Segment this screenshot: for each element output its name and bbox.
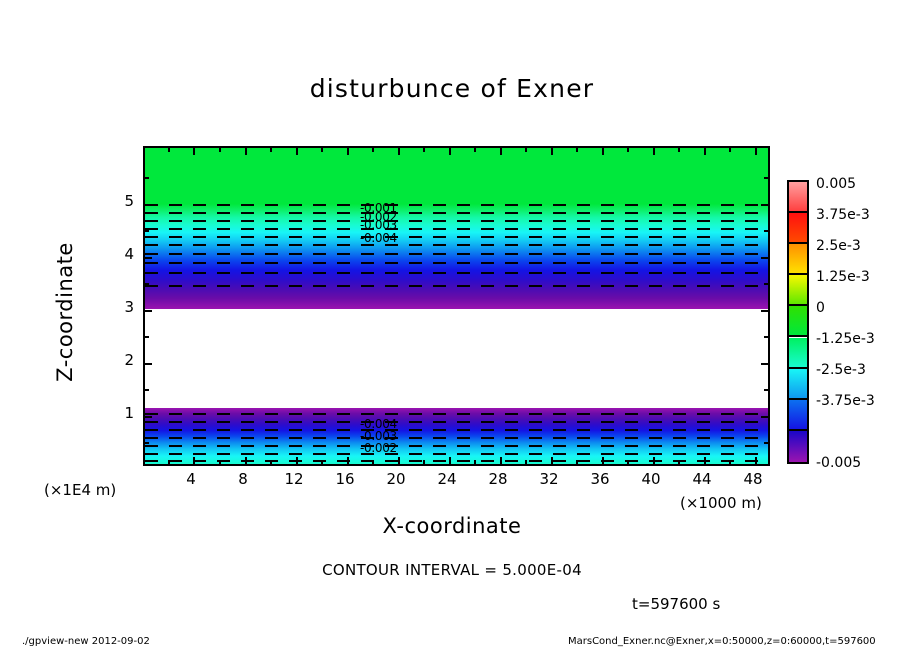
x-tick-12: [296, 457, 298, 464]
colorbar-label-3: 1.25e-3: [816, 269, 870, 285]
x-tick-20: [398, 457, 400, 464]
x-tick-top-minor-2: [168, 148, 170, 152]
x-tick-top-44: [704, 148, 706, 155]
x-tick-top-minor-22: [423, 148, 425, 152]
x-tick-top-minor-6: [219, 148, 221, 152]
x-tick-minor-30: [525, 460, 527, 464]
colorbar-cell-4: [789, 306, 807, 337]
x-tick-top-16: [347, 148, 349, 155]
x-tick-minor-34: [576, 460, 578, 464]
colorbar-label-4: 0: [816, 300, 825, 316]
x-tick-top-40: [653, 148, 655, 155]
contour-label-lower-3: -0.002: [360, 441, 397, 455]
y-tick-right-5: [761, 204, 768, 206]
y-tick-label-5: 5: [104, 192, 134, 210]
x-tick-minor-6: [219, 460, 221, 464]
colorbar-label-8: -0.005: [816, 455, 861, 471]
y-tick-minor-1_5: [145, 389, 149, 391]
y-tick-label-3: 3: [104, 298, 134, 316]
x-tick-label-48: 48: [733, 470, 773, 488]
x-tick-top-32: [551, 148, 553, 155]
x-tick-top-36: [602, 148, 604, 155]
x-tick-top-20: [398, 148, 400, 155]
x-tick-label-40: 40: [631, 470, 671, 488]
y-tick-right-minor-4_5: [764, 230, 768, 232]
x-tick-top-28: [500, 148, 502, 155]
y-tick-right-minor-3_5: [764, 283, 768, 285]
contour-plot-area[interactable]: -0.001 -0.002 -0.003 -0.004 -0.004 -0.00…: [143, 146, 770, 466]
x-tick-minor-38: [627, 460, 629, 464]
x-tick-16: [347, 457, 349, 464]
y-tick-minor-2_5: [145, 336, 149, 338]
colorbar-label-1: 3.75e-3: [816, 207, 870, 223]
x-tick-top-minor-26: [474, 148, 476, 152]
x-axis-title: X-coordinate: [0, 514, 904, 538]
colorbar-cell-0: [789, 182, 807, 213]
x-tick-minor-22: [423, 460, 425, 464]
colorbar-label-6: -2.5e-3: [816, 362, 866, 378]
colorbar-cell-6: [789, 369, 807, 400]
x-tick-40: [653, 457, 655, 464]
x-tick-label-20: 20: [376, 470, 416, 488]
x-tick-top-minor-34: [576, 148, 578, 152]
contour-interval-label: CONTOUR INTERVAL = 5.000E-04: [0, 561, 904, 579]
y-tick-right-4: [761, 257, 768, 259]
x-tick-top-minor-10: [270, 148, 272, 152]
x-tick-top-24: [449, 148, 451, 155]
x-tick-top-minor-42: [678, 148, 680, 152]
x-tick-label-44: 44: [682, 470, 722, 488]
x-tick-top-minor-14: [321, 148, 323, 152]
x-tick-36: [602, 457, 604, 464]
x-tick-top-8: [245, 148, 247, 155]
y-axis-unit-label: (×1E4 m): [44, 481, 116, 499]
y-tick-5: [145, 204, 152, 206]
colorbar-label-2: 2.5e-3: [816, 238, 861, 254]
y-tick-right-minor-2_5: [764, 336, 768, 338]
colorbar-cell-1: [789, 213, 807, 244]
x-tick-top-minor-46: [729, 148, 731, 152]
color-band-upper-gradient: [145, 204, 768, 309]
colorbar-label-7: -3.75e-3: [816, 393, 875, 409]
x-tick-top-minor-30: [525, 148, 527, 152]
x-tick-label-16: 16: [325, 470, 365, 488]
x-tick-minor-2: [168, 460, 170, 464]
x-tick-label-36: 36: [580, 470, 620, 488]
x-tick-label-4: 4: [171, 470, 211, 488]
x-tick-minor-26: [474, 460, 476, 464]
y-tick-2: [145, 363, 152, 365]
x-tick-label-24: 24: [427, 470, 467, 488]
y-tick-label-4: 4: [104, 245, 134, 263]
x-tick-minor-10: [270, 460, 272, 464]
x-tick-top-4: [193, 148, 195, 155]
y-tick-minor-5_5: [145, 177, 149, 179]
x-tick-8: [245, 457, 247, 464]
x-tick-top-minor-18: [372, 148, 374, 152]
x-tick-label-28: 28: [478, 470, 518, 488]
x-tick-24: [449, 457, 451, 464]
x-tick-minor-42: [678, 460, 680, 464]
y-axis-title: Z-coordinate: [53, 202, 77, 422]
y-tick-right-1: [761, 416, 768, 418]
y-tick-right-minor-1_5: [764, 389, 768, 391]
y-tick-minor-3_5: [145, 283, 149, 285]
colorbar-cell-3: [789, 275, 807, 306]
x-tick-label-12: 12: [274, 470, 314, 488]
colorbar-cell-2: [789, 244, 807, 275]
x-tick-minor-46: [729, 460, 731, 464]
y-tick-right-minor-5_5: [764, 177, 768, 179]
x-tick-4: [193, 457, 195, 464]
footer-dataset-label: MarsCond_Exner.nc@Exner,x=0:50000,z=0:60…: [568, 636, 876, 647]
color-band-green: [145, 148, 768, 204]
color-band-lower-gradient: [145, 408, 768, 464]
x-tick-label-8: 8: [223, 470, 263, 488]
y-tick-1: [145, 416, 152, 418]
x-tick-32: [551, 457, 553, 464]
x-tick-minor-14: [321, 460, 323, 464]
footer-command-label: ./gpview-new 2012-09-02: [22, 636, 150, 647]
time-label: t=597600 s: [632, 595, 720, 613]
colorbar-cell-8: [789, 431, 807, 462]
y-tick-right-3: [761, 310, 768, 312]
colorbar-cell-5: [789, 338, 807, 369]
y-tick-right-2: [761, 363, 768, 365]
page-title: disturbunce of Exner: [0, 74, 904, 103]
x-tick-top-48: [755, 148, 757, 155]
x-tick-28: [500, 457, 502, 464]
x-tick-44: [704, 457, 706, 464]
colorbar[interactable]: [787, 180, 809, 464]
colorbar-label-0: 0.005: [816, 176, 856, 192]
x-tick-minor-18: [372, 460, 374, 464]
y-tick-right-minor-0_5: [764, 442, 768, 444]
x-tick-top-minor-38: [627, 148, 629, 152]
y-tick-minor-4_5: [145, 230, 149, 232]
y-tick-4: [145, 257, 152, 259]
x-tick-top-12: [296, 148, 298, 155]
x-axis-unit-label: (×1000 m): [680, 494, 762, 512]
y-tick-label-2: 2: [104, 351, 134, 369]
colorbar-cell-7: [789, 400, 807, 431]
contour-label-upper-4: -0.004: [360, 231, 397, 245]
x-tick-48: [755, 457, 757, 464]
y-tick-minor-0_5: [145, 442, 149, 444]
y-tick-label-1: 1: [104, 404, 134, 422]
y-tick-3: [145, 310, 152, 312]
x-tick-label-32: 32: [529, 470, 569, 488]
contour-label-upper-3: -0.003: [360, 218, 397, 232]
colorbar-label-5: -1.25e-3: [816, 331, 875, 347]
